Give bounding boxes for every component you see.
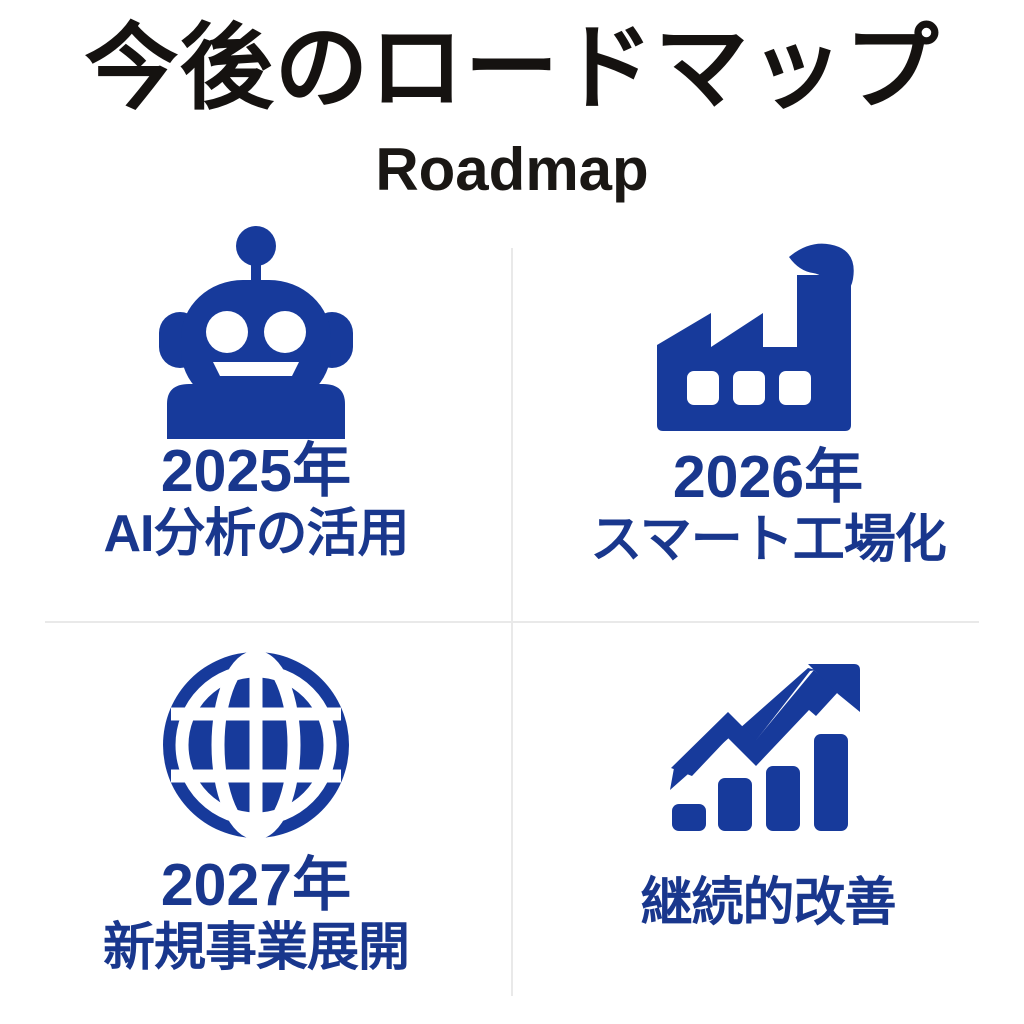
factory-icon <box>653 228 883 446</box>
page-title: 今後のロードマップ <box>0 16 1024 119</box>
roadmap-item-2025[interactable]: 2025年 AI分析の活用 <box>0 222 512 622</box>
roadmap-item-2027[interactable]: 2027年 新規事業展開 <box>0 624 512 1024</box>
globe-icon <box>141 636 371 854</box>
roadmap-item-labels: 2027年 新規事業展開 <box>103 854 409 976</box>
roadmap-item-labels: 2025年 AI分析の活用 <box>103 440 408 562</box>
roadmap-item-description: 新規事業展開 <box>103 921 409 976</box>
header: 今後のロードマップ Roadmap <box>0 0 1024 220</box>
page-subtitle: Roadmap <box>0 138 1024 201</box>
roadmap-item-year: 2025年 <box>103 440 408 503</box>
roadmap-item-year: 2027年 <box>103 854 409 917</box>
roadmap-item-labels: 継続的改善 <box>640 872 895 931</box>
roadmap-item-description: AI分析の活用 <box>103 507 408 562</box>
robot-icon <box>141 222 371 440</box>
growth-chart-icon <box>653 636 883 854</box>
roadmap-item-2026[interactable]: 2026年 スマート工場化 <box>512 222 1024 622</box>
roadmap-infographic: 今後のロードマップ Roadmap <box>0 0 1024 1024</box>
roadmap-item-continuous-improvement[interactable]: 継続的改善 <box>512 624 1024 1024</box>
roadmap-item-labels: 2026年 スマート工場化 <box>590 446 945 568</box>
roadmap-item-description: スマート工場化 <box>590 513 945 568</box>
roadmap-item-year: 2026年 <box>590 446 945 509</box>
roadmap-item-description: 継続的改善 <box>640 876 895 931</box>
